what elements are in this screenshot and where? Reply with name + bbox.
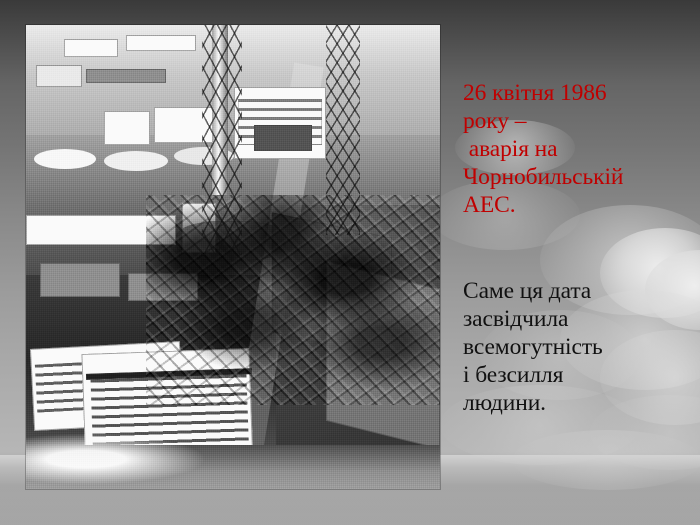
chernobyl-photo bbox=[26, 25, 440, 489]
body-text-line: і безсилля bbox=[463, 361, 695, 389]
red-heading-line: Чорнобильській bbox=[463, 163, 695, 191]
red-heading-block: 26 квітня 1986 року – аварія на Чорнобил… bbox=[463, 79, 695, 219]
body-text-line: Саме ця дата bbox=[463, 277, 695, 305]
body-text-line: засвідчила bbox=[463, 305, 695, 333]
red-heading-line: 26 квітня 1986 bbox=[463, 79, 695, 107]
body-text-block: Саме ця дата засвідчила всемогутність і … bbox=[463, 277, 695, 417]
presentation-slide: 26 квітня 1986 року – аварія на Чорнобил… bbox=[0, 0, 700, 525]
red-heading-line: АЕС. bbox=[463, 191, 695, 219]
body-text-line: людини. bbox=[463, 389, 695, 417]
red-heading-line: року – bbox=[463, 107, 695, 135]
red-heading-line: аварія на bbox=[463, 135, 695, 163]
body-text-line: всемогутність bbox=[463, 333, 695, 361]
photo-film-grain bbox=[26, 25, 440, 489]
